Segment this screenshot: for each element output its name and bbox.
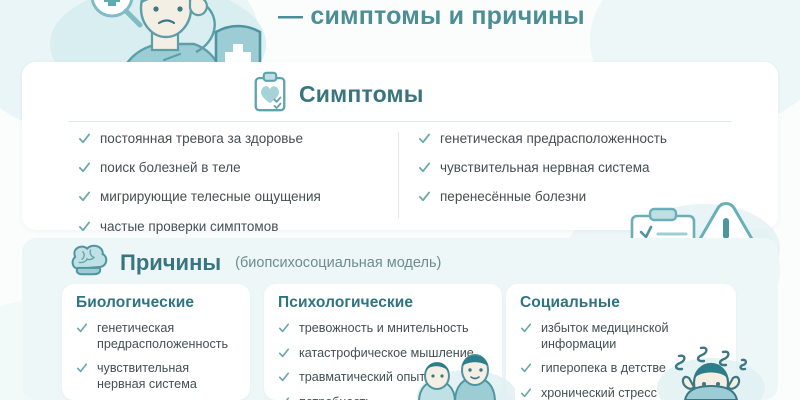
clipboard-heart-icon — [252, 71, 288, 117]
list-item: чувствительная нервная система — [76, 361, 236, 392]
check-icon — [78, 161, 91, 174]
list-item: хронический стресс — [520, 386, 722, 400]
infographic-page: — симптомы и причины Симптомы постоянная… — [0, 0, 800, 400]
check-icon — [418, 190, 431, 203]
list-item: постоянная тревога за здоровье — [78, 131, 398, 147]
list-item-label: гиперопека в детстве — [541, 361, 666, 377]
list-item: катастрофическое мышление — [278, 346, 488, 362]
check-icon — [78, 190, 91, 203]
list-item-label: катастрофическое мышление — [299, 346, 474, 362]
check-icon — [76, 322, 89, 335]
column-title: Социальные — [520, 294, 722, 312]
check-icon — [520, 362, 533, 375]
check-icon — [78, 220, 91, 233]
list-item-label: хронический стресс — [541, 386, 657, 400]
causes-column-biological: Биологические генетическая предрасположе… — [62, 284, 250, 400]
list-item-label: чувствительная нервная система — [97, 361, 236, 392]
check-icon — [520, 322, 533, 335]
list-item-label: частые проверки симптомов — [100, 219, 278, 235]
check-icon — [278, 322, 291, 335]
list-item-label: чувствительная нервная система — [440, 160, 650, 176]
list-item: генетическая предрасположенность — [76, 321, 236, 352]
list-item: частые проверки симптомов — [78, 219, 398, 235]
list-item-label: мигрирующие телесные ощущения — [100, 189, 321, 205]
column-title: Биологические — [76, 294, 236, 312]
list-item-label: генетическая предрасположенность — [97, 321, 236, 352]
list-item-label: избыток медицинской информации — [541, 321, 722, 352]
list-item-label: травматический опыт — [299, 370, 425, 386]
symptoms-divider — [68, 121, 732, 122]
list-item: избыток медицинской информации — [520, 321, 722, 352]
list-item: перенесённые болезни — [418, 189, 738, 205]
check-icon — [278, 371, 291, 384]
symptoms-heading-row: Симптомы — [252, 74, 424, 114]
column-title: Психологические — [278, 294, 488, 312]
list-item-label: постоянная тревога за здоровье — [100, 131, 303, 147]
symptoms-right-column: генетическая предрасположенность чувстви… — [418, 131, 738, 219]
list-item-label: поиск болезней в теле — [100, 160, 241, 176]
list-item: тревожность и мнительность — [278, 321, 488, 337]
list-item: генетическая предрасположенность — [418, 131, 738, 147]
check-icon — [418, 161, 431, 174]
symptoms-left-column: постоянная тревога за здоровье поиск бол… — [78, 131, 398, 248]
symptoms-heading-label: Симптомы — [299, 81, 424, 108]
list-item: потребность — [278, 395, 488, 400]
check-icon — [78, 132, 91, 145]
check-icon — [418, 132, 431, 145]
check-icon — [278, 396, 291, 400]
list-item: чувствительная нервная система — [418, 160, 738, 176]
causes-heading-label: Причины — [120, 250, 221, 276]
causes-heading-row: Причины (биопсихосоциальная модель) — [66, 246, 441, 280]
list-item-label: тревожность и мнительность — [299, 321, 469, 337]
check-icon — [520, 387, 533, 400]
check-icon — [76, 362, 89, 375]
list-item: мигрирующие телесные ощущения — [78, 189, 398, 205]
causes-column-psychological: Психологические тревожность и мнительнос… — [264, 284, 502, 400]
causes-column-social: Социальные избыток медицинской информаци… — [506, 284, 736, 400]
page-title: — симптомы и причины — [278, 2, 585, 31]
list-item-label: перенесённые болезни — [440, 189, 586, 205]
causes-subtitle: (биопсихосоциальная модель) — [235, 255, 441, 271]
symptoms-column-divider — [398, 132, 399, 218]
list-item-label: генетическая предрасположенность — [440, 131, 667, 147]
list-item: поиск болезней в теле — [78, 160, 398, 176]
check-icon — [278, 347, 291, 360]
brain-icon — [66, 244, 110, 282]
list-item: гиперопека в детстве — [520, 361, 722, 377]
list-item: травматический опыт — [278, 370, 488, 386]
list-item-label: потребность — [299, 395, 372, 400]
